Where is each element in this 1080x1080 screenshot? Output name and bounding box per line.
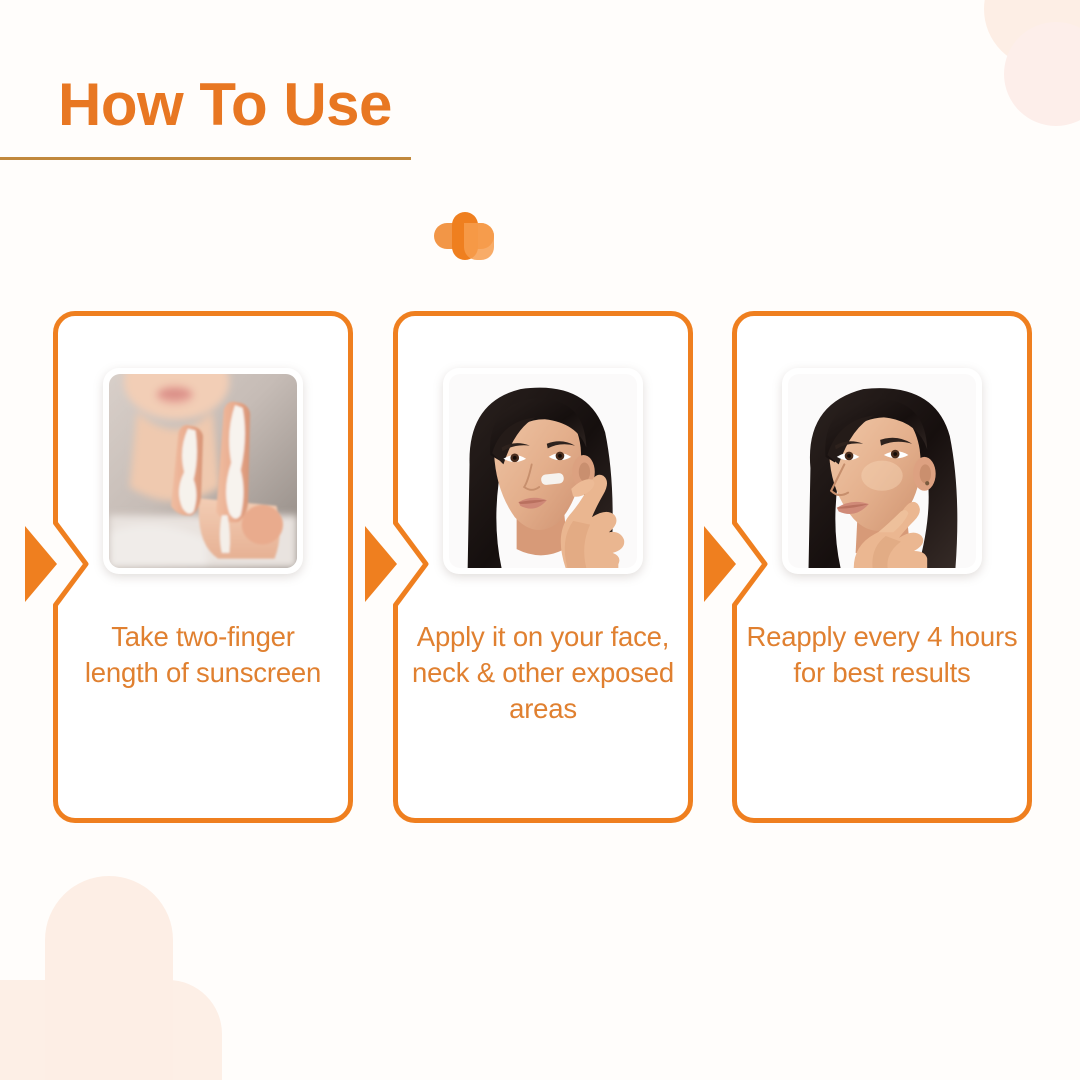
chevron-right-icon-1 [21, 523, 61, 605]
glowing-face-photo [788, 374, 976, 568]
step-image-1-frame [109, 374, 297, 568]
steps-row: Take two-finger length of sunscreen [0, 311, 1080, 823]
step-image-3 [782, 368, 982, 574]
step-card-3[interactable]: Reapply every 4 hours for best results [732, 311, 1032, 823]
chevron-right-icon-2 [361, 523, 401, 605]
fingers-sunscreen-photo [109, 374, 297, 568]
chevron-right-icon-3 [700, 523, 740, 605]
step-caption-3: Reapply every 4 hours for best results [742, 619, 1022, 691]
step-image-3-frame [788, 374, 976, 568]
step-image-2-frame [449, 374, 637, 568]
corner-blob-bottom-left-band [0, 980, 222, 1080]
step-image-1 [103, 368, 303, 574]
apply-to-face-photo [449, 374, 637, 568]
page-title: How To Use [0, 70, 1080, 140]
step-card-2[interactable]: Apply it on your face, neck & other expo… [393, 311, 693, 823]
step-image-2 [443, 368, 643, 574]
step-caption-1: Take two-finger length of sunscreen [63, 619, 343, 691]
step-card-1[interactable]: Take two-finger length of sunscreen [53, 311, 353, 823]
title-divider [0, 157, 411, 160]
header: How To Use [0, 70, 1080, 140]
plus-ornament-icon [434, 212, 494, 260]
corner-blob-top-right-a [984, 0, 1080, 68]
how-to-use-infographic: How To Use [0, 0, 1080, 1080]
plus-overlap-quadrant [464, 223, 494, 260]
corner-blob-bottom-left-arch [45, 876, 173, 1080]
step-caption-2: Apply it on your face, neck & other expo… [403, 619, 683, 727]
